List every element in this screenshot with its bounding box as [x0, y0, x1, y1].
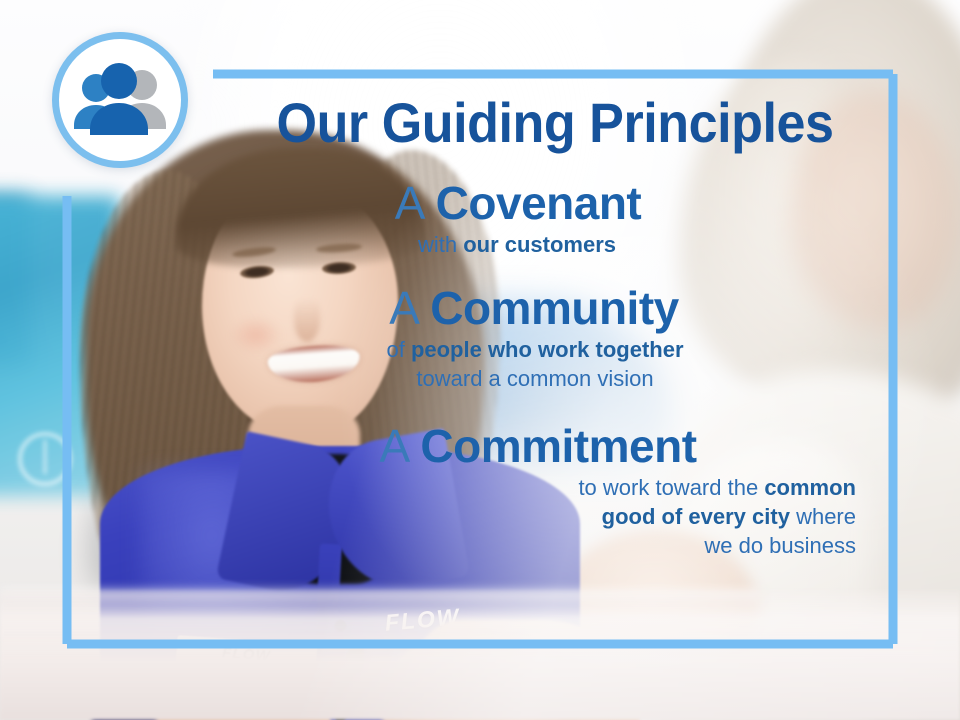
group-of-people-icon-badge: [52, 32, 188, 168]
principle-commitment: A Commitment to work toward the common g…: [210, 419, 866, 560]
covenant-sub-bold-1: our customers: [463, 232, 616, 257]
principle-community: A Community of people who work together …: [210, 281, 866, 393]
community-sub-plain-2: toward a common vision: [416, 366, 653, 391]
principle-commitment-line-3: we do business: [210, 531, 866, 560]
covenant-sub-plain-1: with: [418, 232, 463, 257]
principle-covenant-heading: A Covenant: [210, 176, 866, 230]
principle-covenant-article: A: [395, 177, 436, 229]
principle-community-line-1: of people who work together: [210, 335, 866, 364]
principle-community-article: A: [389, 282, 430, 334]
principle-community-keyword: Community: [430, 282, 679, 334]
commitment-sub-plain-1: to work toward the: [578, 475, 764, 500]
guiding-principles-graphic: FLOW FLOW AUTOMOTIVE: [0, 0, 960, 720]
vehicle-brand-logo-blurred: [18, 432, 72, 486]
principle-commitment-heading: A Commitment: [210, 419, 866, 473]
principle-commitment-line-2: good of every city where: [210, 502, 866, 531]
commitment-sub-bold-2: good of every city: [602, 504, 790, 529]
commitment-sub-plain-2: where: [790, 504, 856, 529]
community-sub-bold-1: people who work together: [411, 337, 684, 362]
commitment-sub-plain-3: we do business: [704, 533, 856, 558]
commitment-sub-bold-1: common: [764, 475, 856, 500]
principle-commitment-keyword: Commitment: [420, 420, 696, 472]
principle-commitment-article: A: [379, 420, 420, 472]
principle-covenant-keyword: Covenant: [436, 177, 642, 229]
desk-surface: [0, 590, 960, 720]
principle-community-heading: A Community: [210, 281, 866, 335]
principles-list: A Covenant with our customers A Communit…: [210, 176, 898, 566]
page-title: Our Guiding Principles: [237, 92, 873, 154]
principle-covenant-line-1: with our customers: [210, 230, 866, 259]
principle-covenant: A Covenant with our customers: [210, 176, 866, 259]
principle-community-line-2: toward a common vision: [210, 364, 866, 393]
community-sub-plain-1: of: [386, 337, 410, 362]
group-of-people-icon: [68, 63, 172, 137]
principle-commitment-line-1: to work toward the common: [210, 473, 866, 502]
